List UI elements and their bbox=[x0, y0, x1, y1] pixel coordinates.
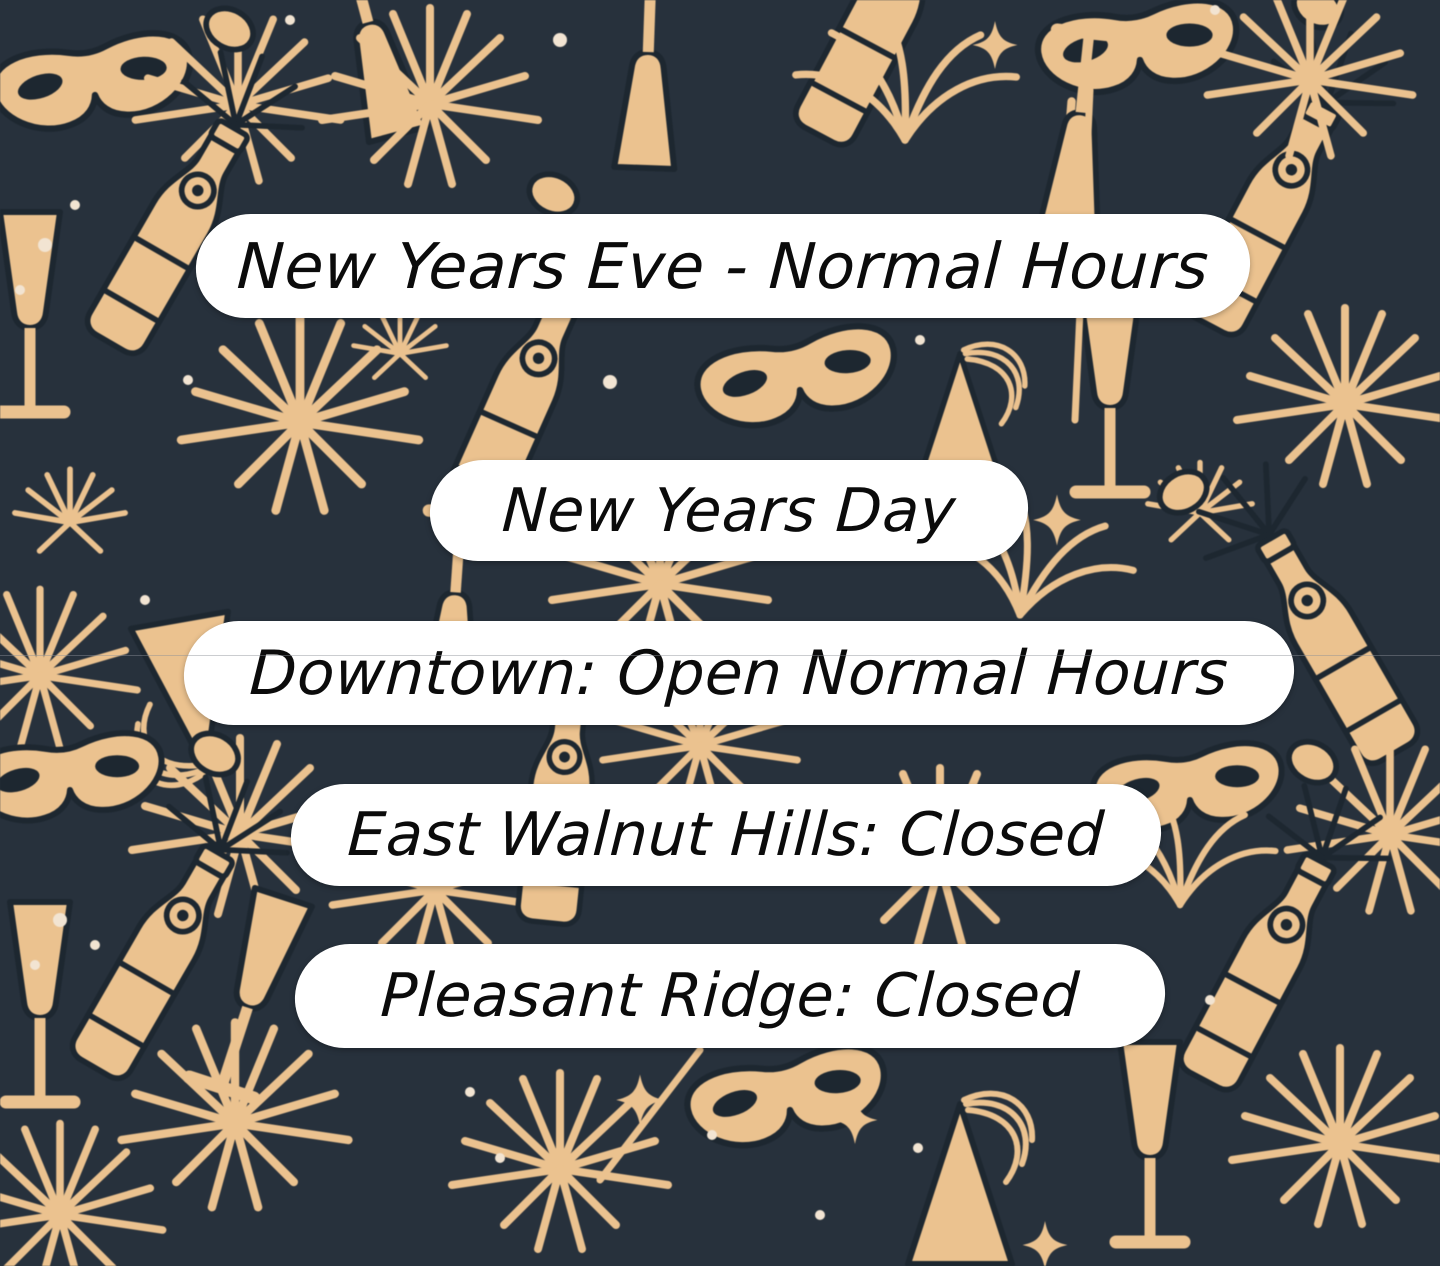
banner-pleasant-ridge-status: Pleasant Ridge: Closed bbox=[292, 944, 1167, 1048]
banner-text: Downtown: Open Normal Hours bbox=[248, 638, 1230, 709]
poster-canvas: New Years Eve - Normal Hours New Years D… bbox=[0, 0, 1440, 1266]
banner-downtown-hours: Downtown: Open Normal Hours bbox=[181, 621, 1296, 725]
banner-text: New Years Eve - Normal Hours bbox=[235, 230, 1210, 303]
banner-text: East Walnut Hills: Closed bbox=[346, 800, 1106, 870]
banner-text: New Years Day bbox=[500, 476, 957, 546]
banner-stack: New Years Eve - Normal Hours New Years D… bbox=[0, 0, 1440, 1266]
banner-east-walnut-hills-status: East Walnut Hills: Closed bbox=[288, 784, 1163, 886]
banner-new-years-day: New Years Day bbox=[427, 460, 1030, 561]
banner-new-years-eve: New Years Eve - Normal Hours bbox=[193, 214, 1252, 318]
banner-text: Pleasant Ridge: Closed bbox=[379, 961, 1081, 1031]
